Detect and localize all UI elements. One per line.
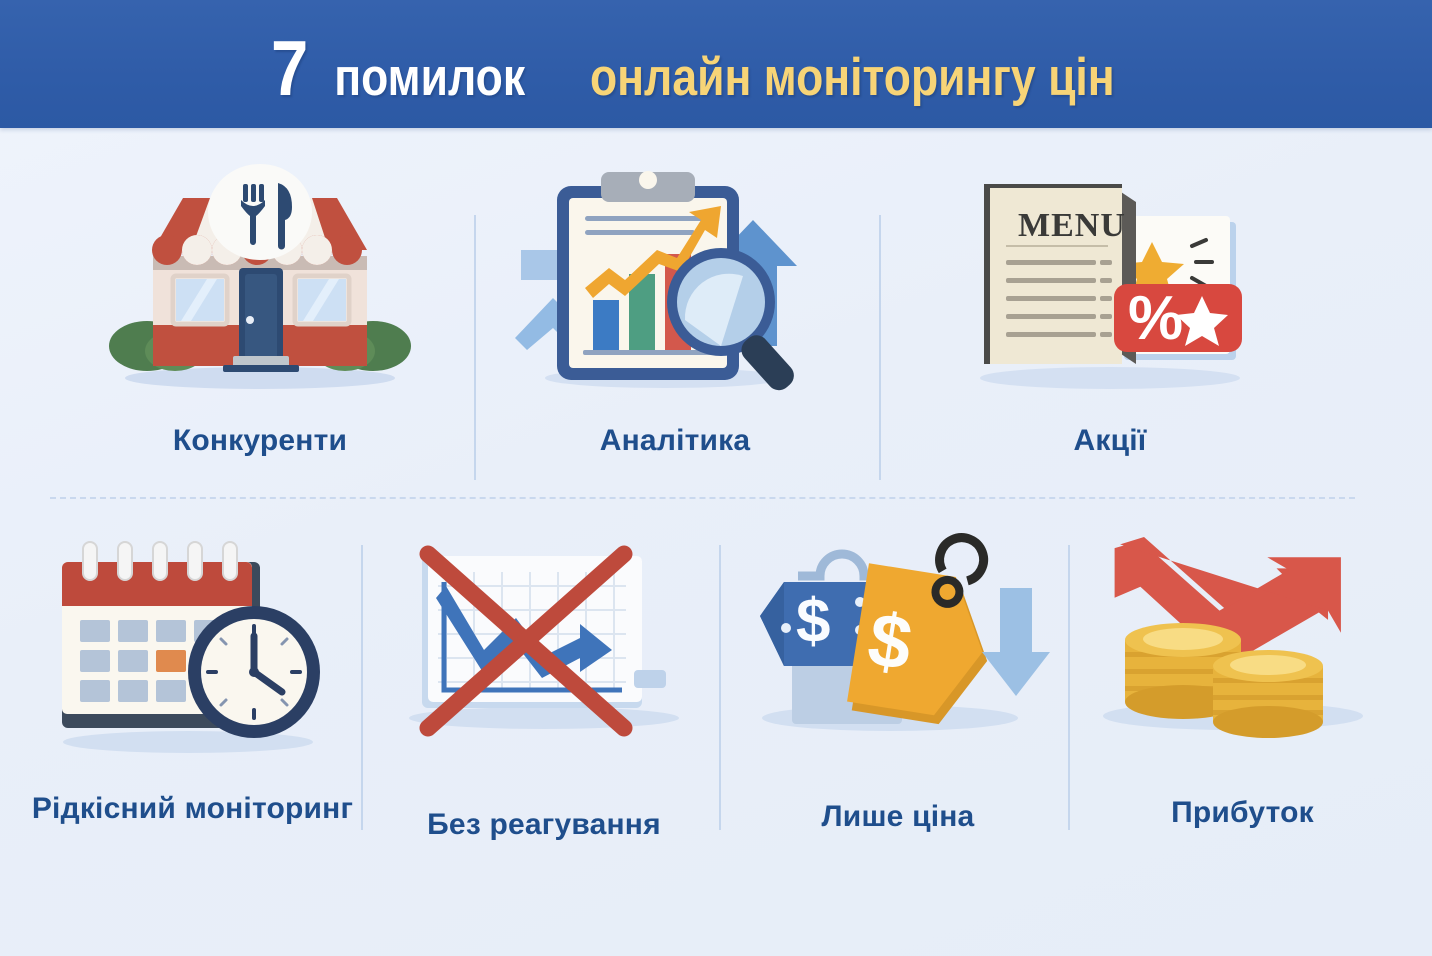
cell-label-no-reaction: Без реагування xyxy=(427,808,661,842)
divider-bottom-1 xyxy=(361,545,363,830)
divider-bottom-3 xyxy=(1068,545,1070,830)
svg-text:MENU: MENU xyxy=(1018,207,1126,244)
calendar-clock-svg xyxy=(38,520,348,770)
cell-label-competitors: Конкуренти xyxy=(173,424,347,458)
cell-price-only: $ $ Лише ціна xyxy=(723,520,1073,860)
row-divider-dashed xyxy=(50,497,1355,501)
calendar-clock-icon xyxy=(38,520,348,770)
price-only-svg: $ $ xyxy=(738,520,1058,770)
cell-profit: Прибуток xyxy=(1073,520,1412,860)
svg-text:%: % xyxy=(1128,284,1183,353)
title-number: 7 xyxy=(271,29,307,107)
cell-label-profit: Прибуток xyxy=(1171,796,1314,830)
header-bar: 7 помилок онлайн моніторингу цін xyxy=(0,0,1432,128)
cell-label-rare-monitoring: Рідкісний моніторинг xyxy=(32,792,353,826)
crossed-out-declining-chart-icon xyxy=(384,520,704,770)
bottom-row: Рідкісний моніторинг xyxy=(20,520,1412,860)
no-reaction-svg xyxy=(384,520,704,770)
cell-promotions: MENU % Акції xyxy=(890,150,1330,490)
infographic-canvas: 7 помилок онлайн моніторингу цін xyxy=(0,0,1432,956)
coin-stacks-declining-arrow-icon xyxy=(1083,520,1403,770)
clipboard-chart-magnifier-icon xyxy=(505,150,845,400)
analytics-svg xyxy=(505,150,845,400)
storefront-svg xyxy=(95,150,425,400)
cell-rare-monitoring: Рідкісний моніторинг xyxy=(20,520,365,860)
cell-competitors: Конкуренти xyxy=(60,150,460,490)
top-row: Конкуренти xyxy=(60,150,1372,490)
cell-label-analytics: Аналітика xyxy=(600,424,751,458)
shopping-bag-price-tag-icon: $ $ xyxy=(738,520,1058,770)
profit-svg xyxy=(1083,520,1403,770)
cell-label-price-only: Лише ціна xyxy=(822,800,975,834)
menu-discount-badge-icon: MENU % xyxy=(940,150,1280,400)
divider-top-1 xyxy=(474,215,476,480)
divider-top-2 xyxy=(879,215,881,480)
promotions-svg: MENU % xyxy=(940,150,1280,400)
storefront-restaurant-icon xyxy=(95,150,425,400)
svg-text:$: $ xyxy=(796,587,830,656)
cell-no-reaction: Без реагування xyxy=(365,520,723,860)
cell-analytics: Аналітика xyxy=(460,150,890,490)
title-white-part: помилок xyxy=(334,51,525,104)
title-yellow-part: онлайн моніторингу цін xyxy=(590,51,1115,104)
header-title: 7 помилок онлайн моніторингу цін xyxy=(268,29,1164,107)
cell-label-promotions: Акції xyxy=(1074,424,1147,458)
divider-bottom-2 xyxy=(719,545,721,830)
